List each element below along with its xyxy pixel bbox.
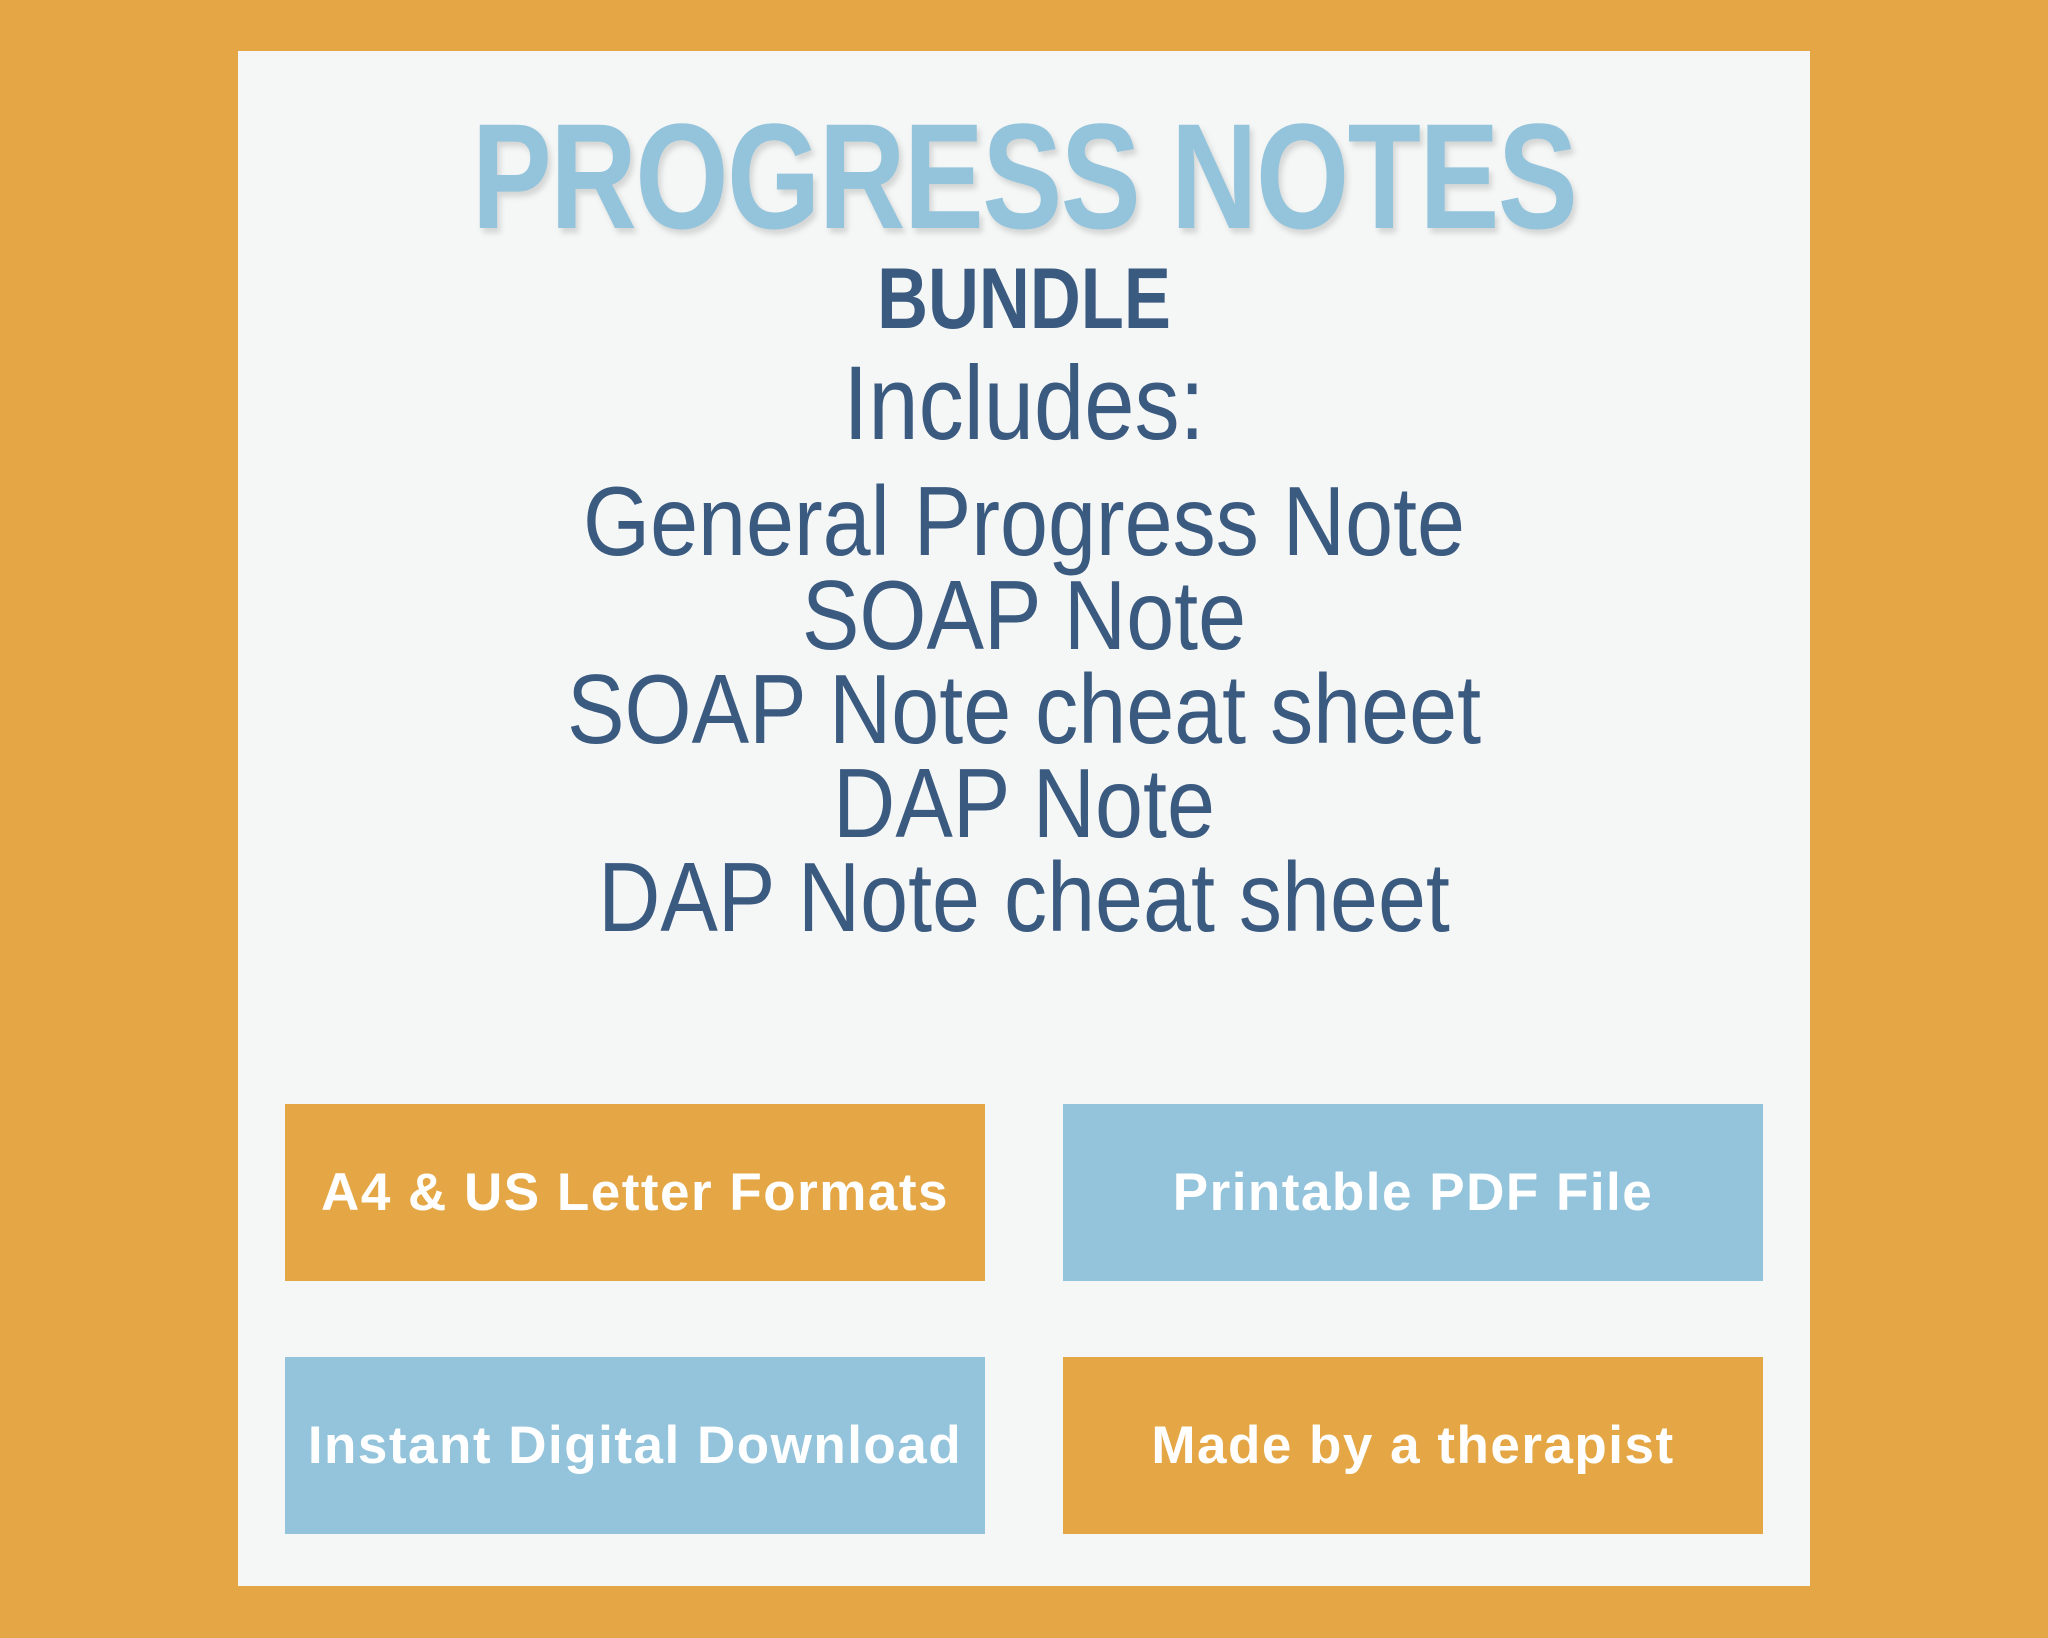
page-title: PROGRESS NOTES [395, 101, 1653, 251]
page-subtitle: BUNDLE [379, 256, 1668, 342]
includes-label: Includes: [348, 351, 1700, 456]
list-item: General Progress Note [332, 476, 1715, 566]
list-item: SOAP Note cheat sheet [332, 664, 1715, 754]
list-item: DAP Note [332, 758, 1715, 848]
badge-formats: A4 & US Letter Formats [285, 1104, 985, 1281]
poster-card: PROGRESS NOTES BUNDLE Includes: General … [238, 51, 1810, 1586]
feature-badge-grid: A4 & US Letter Formats Printable PDF Fil… [285, 1104, 1763, 1534]
contents-list: General Progress Note SOAP Note SOAP Not… [238, 476, 1810, 946]
list-item: DAP Note cheat sheet [332, 852, 1715, 942]
badge-instant-download: Instant Digital Download [285, 1357, 985, 1534]
poster-canvas: PROGRESS NOTES BUNDLE Includes: General … [0, 0, 2048, 1638]
list-item: SOAP Note [332, 570, 1715, 660]
badge-printable-pdf: Printable PDF File [1063, 1104, 1763, 1281]
badge-made-by-therapist: Made by a therapist [1063, 1357, 1763, 1534]
